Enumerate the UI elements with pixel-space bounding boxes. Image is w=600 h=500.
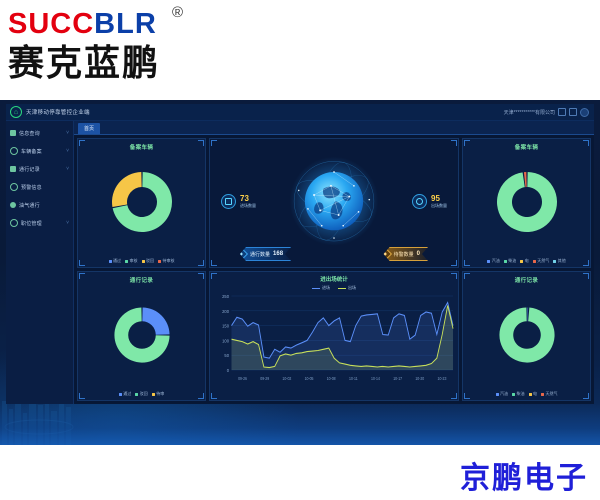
svg-text:09-29: 09-29 (260, 377, 269, 381)
info-query-icon (10, 130, 16, 136)
legend-label: 通过 (113, 258, 121, 264)
corner-decor-icon (451, 260, 457, 266)
donut-chart-container (463, 284, 590, 386)
legend-swatch (312, 288, 320, 289)
svg-text:100: 100 (222, 338, 229, 343)
line-area-chart: 05010015020025009-2609-2910-0210-0510-08… (210, 292, 458, 384)
diamond-icon (378, 247, 392, 261)
sidebar-item-vehicle-record[interactable]: 车辆备案 ˅ (6, 142, 73, 160)
legend-label: 待审核 (163, 258, 175, 264)
legend-label: 驳回 (140, 391, 148, 397)
brand-header: SUCCBLR ® 赛克蓝鹏 (0, 0, 600, 100)
pill-value: 0 (417, 251, 420, 257)
corner-decor-icon (79, 140, 85, 146)
legend-item: 电 (520, 258, 529, 264)
gear-icon[interactable] (569, 108, 577, 116)
corner-decor-icon (211, 260, 217, 266)
corner-decor-icon (211, 393, 217, 399)
legend-item: 驳回 (142, 258, 155, 264)
pill-label: 待警数量 (394, 251, 414, 258)
donut-chart-container (463, 151, 590, 253)
corner-decor-icon (583, 273, 589, 279)
sidebar-item-label: 预警信息 (21, 184, 42, 191)
chart-legend: 汽油 柴油 电 天然气 (463, 391, 590, 397)
legend-label: 天然气 (546, 391, 558, 397)
legend-swatch (338, 288, 346, 289)
shield-logo-icon: ⌂ (10, 106, 22, 118)
svg-text:50: 50 (224, 353, 229, 358)
legend-label: 进场 (322, 285, 330, 291)
sidebar-item-fuel-transit[interactable]: 油气通行 (6, 196, 73, 214)
legend-item: 柴油 (504, 258, 517, 264)
card-title: 通行记录 (78, 272, 205, 284)
legend-label: 汽油 (500, 391, 508, 397)
legend-item: 汽油 (496, 391, 509, 397)
svg-text:10-11: 10-11 (349, 377, 358, 381)
legend-item: 柴油 (512, 391, 525, 397)
svg-text:0: 0 (227, 368, 230, 373)
legend-item: 通过 (109, 258, 122, 264)
svg-text:10-20: 10-20 (415, 377, 424, 381)
legend-label: 电 (533, 391, 537, 397)
legend-item: 通过 (119, 391, 132, 397)
donut-chart (490, 165, 564, 239)
pill-value: 168 (273, 251, 283, 257)
sidebar-item-label: 信息查询 (19, 130, 40, 137)
svg-text:10-23: 10-23 (438, 377, 447, 381)
tab-bar: 首页 (74, 121, 594, 135)
legend-item: 审核 (125, 258, 138, 264)
corner-decor-icon (451, 393, 457, 399)
card-title: 备案车辆 (463, 139, 590, 151)
entry-icon (221, 194, 236, 209)
sidebar-item-role-manage[interactable]: 职位管理 ˅ (6, 214, 73, 232)
chart-legend: 通过 审核 驳回 待审核 (78, 258, 205, 264)
legend-label: 柴油 (517, 391, 525, 397)
avatar[interactable] (580, 108, 589, 117)
stat-exit-count: 95 出场数量 (412, 194, 447, 209)
corner-decor-icon (451, 273, 457, 279)
exit-icon (412, 194, 427, 209)
chart-title: 进出场统计 (210, 272, 458, 283)
app-topbar: ⌂ 天津移动停靠管控企业端 天津***********有限公司 (6, 104, 594, 121)
stat-label: 进场数量 (240, 204, 256, 208)
sidebar-item-label: 职位管理 (21, 220, 42, 227)
sidebar-item-label: 通行记录 (19, 166, 40, 173)
legend-item: 电 (529, 391, 538, 397)
role-manage-icon (10, 219, 18, 227)
corner-decor-icon (464, 140, 470, 146)
bottom-strip: 京鹏电子 (0, 445, 600, 500)
legend-item: 其他 (553, 258, 566, 264)
legend-label: 汽油 (492, 258, 500, 264)
fuel-transit-icon (10, 202, 16, 208)
chevron-down-icon: ˅ (66, 130, 69, 136)
alert-icon (10, 183, 18, 191)
corner-decor-icon (198, 140, 204, 146)
card-title: 通行记录 (463, 272, 590, 284)
svg-text:150: 150 (222, 323, 229, 328)
sidebar-item-info-query[interactable]: 信息查询 ˅ (6, 124, 73, 142)
stat-label: 出场数量 (431, 204, 447, 208)
corner-decor-icon (583, 140, 589, 146)
legend-label: 待审 (156, 391, 164, 397)
dashboard-app-window: ⌂ 天津移动停靠管控企业端 天津***********有限公司 信息查询 ˅ (6, 104, 594, 404)
sidebar-item-label: 油气通行 (19, 202, 40, 209)
card-registered-vehicles-fuel: 备案车辆 汽油 柴油 电 天然气 其他 (462, 138, 591, 268)
sidebar-item-transit-log[interactable]: 通行记录 ˅ (6, 160, 73, 178)
card-registered-vehicles-status: 备案车辆 通过 审核 驳回 待审核 (77, 138, 206, 268)
legend-item: 驳回 (135, 391, 148, 397)
legend-label: 柴油 (508, 258, 516, 264)
svg-text:200: 200 (222, 308, 229, 313)
legend-item: 进场 (312, 285, 330, 291)
tab-home[interactable]: 首页 (78, 123, 100, 134)
desk-glow (0, 403, 600, 445)
topbar-left-group: ⌂ 天津移动停靠管控企业端 (6, 106, 90, 118)
bell-icon[interactable] (558, 108, 566, 116)
legend-item: 出场 (338, 285, 356, 291)
corner-decor-icon (211, 273, 217, 279)
dashboard-grid: 备案车辆 通过 审核 驳回 待审核 (74, 135, 594, 404)
corner-decor-icon (79, 273, 85, 279)
content-area: 首页 备案车辆 通过 审 (74, 121, 594, 404)
card-transit-records-fuel: 通行记录 汽油 柴油 电 天然气 (462, 271, 591, 401)
svg-text:10-08: 10-08 (327, 377, 336, 381)
legend-item: 待审核 (158, 258, 175, 264)
chart-legend: 汽油 柴油 电 天然气 其他 (463, 258, 590, 264)
corner-decor-icon (464, 273, 470, 279)
stat-entry-count: 73 进场数量 (221, 194, 256, 209)
chevron-down-icon: ˅ (66, 166, 69, 172)
legend-item: 天然气 (541, 391, 558, 397)
svg-text:250: 250 (222, 294, 229, 299)
chevron-down-icon: ˅ (66, 148, 69, 154)
pill-transit-count: 通行数量 168 (240, 247, 291, 261)
legend-label: 审核 (130, 258, 138, 264)
legend-label: 通过 (123, 391, 131, 397)
svg-text:10-17: 10-17 (393, 377, 402, 381)
svg-text:09-26: 09-26 (238, 377, 247, 381)
svg-text:10-14: 10-14 (371, 377, 381, 381)
card-transit-records-status: 通行记录 通过 驳回 待审 (77, 271, 206, 401)
donut-chart (493, 301, 561, 369)
app-body: 信息查询 ˅ 车辆备案 ˅ 通行记录 ˅ 预警信息 (6, 121, 594, 404)
org-name-label: 天津移动停靠管控企业端 (26, 108, 90, 116)
chevron-down-icon: ˅ (66, 220, 69, 226)
transit-log-icon (10, 166, 16, 172)
chart-legend: 通过 驳回 待审 (78, 391, 205, 397)
card-title: 备案车辆 (78, 139, 205, 151)
legend-label: 驳回 (146, 258, 154, 264)
diamond-icon (234, 247, 248, 261)
pill-alert-count: 待警数量 0 (384, 247, 428, 261)
donut-chart-container (78, 284, 205, 386)
svg-text:10-02: 10-02 (282, 377, 291, 381)
watermark-text: 京鹏电子 (460, 453, 588, 497)
brand-chinese-name: 赛克蓝鹏 (8, 34, 160, 86)
legend-item: 汽油 (487, 258, 500, 264)
sidebar-item-alert[interactable]: 预警信息 (6, 178, 73, 196)
legend-label: 其他 (558, 258, 566, 264)
donut-chart (108, 301, 176, 369)
sidebar: 信息查询 ˅ 车辆备案 ˅ 通行记录 ˅ 预警信息 (6, 121, 74, 404)
donut-chart-container (78, 151, 205, 253)
svg-text:10-05: 10-05 (305, 377, 314, 381)
monitor-screen-photo: ⌂ 天津移动停靠管控企业端 天津***********有限公司 信息查询 ˅ (0, 100, 600, 445)
legend-item: 待审 (152, 391, 165, 397)
topbar-right-group: 天津***********有限公司 (504, 108, 594, 117)
legend-label: 电 (525, 258, 529, 264)
pill-label: 通行数量 (250, 251, 270, 258)
legend-item: 天然气 (533, 258, 550, 264)
registered-mark-icon: ® (172, 4, 183, 21)
vehicle-record-icon (10, 147, 18, 155)
corner-decor-icon (451, 140, 457, 146)
chart-legend: 进场 出场 (210, 285, 458, 291)
corner-decor-icon (211, 140, 217, 146)
legend-label: 出场 (348, 285, 356, 291)
legend-label: 天然气 (537, 258, 549, 264)
sidebar-item-label: 车辆备案 (21, 148, 42, 155)
card-transit-statistics: 进出场统计 进场 出场 05010015020025009-2609-2 (209, 271, 459, 401)
corner-decor-icon (198, 273, 204, 279)
donut-chart (105, 165, 179, 239)
user-name-label: 天津***********有限公司 (504, 109, 555, 116)
card-globe-overview: 73 进场数量 95 出场数量 (209, 138, 459, 268)
globe-visual-icon (288, 155, 380, 247)
